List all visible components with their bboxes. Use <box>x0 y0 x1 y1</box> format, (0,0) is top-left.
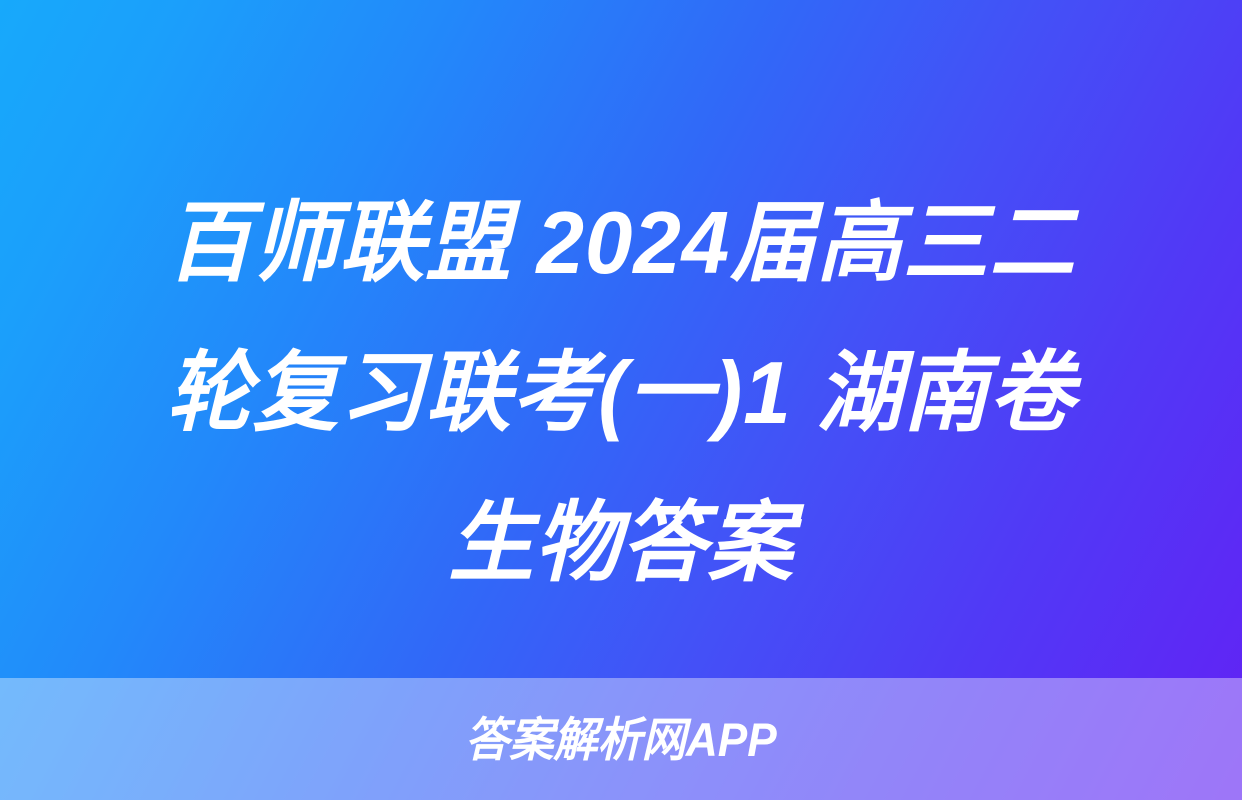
title-line-2: 轮复习联考(一)1 湖南卷 <box>69 318 1173 468</box>
footer-brand-band: 答案解析网APP <box>0 678 1242 800</box>
poster-canvas: 百师联盟 2024届高三二 轮复习联考(一)1 湖南卷 生物答案 答案解析网AP… <box>0 0 1242 800</box>
page-title: 百师联盟 2024届高三二 轮复习联考(一)1 湖南卷 生物答案 <box>0 168 1242 618</box>
title-line-1: 百师联盟 2024届高三二 <box>69 168 1173 318</box>
brand-watermark-label: 答案解析网APP <box>465 716 777 763</box>
title-line-3: 生物答案 <box>69 468 1173 618</box>
